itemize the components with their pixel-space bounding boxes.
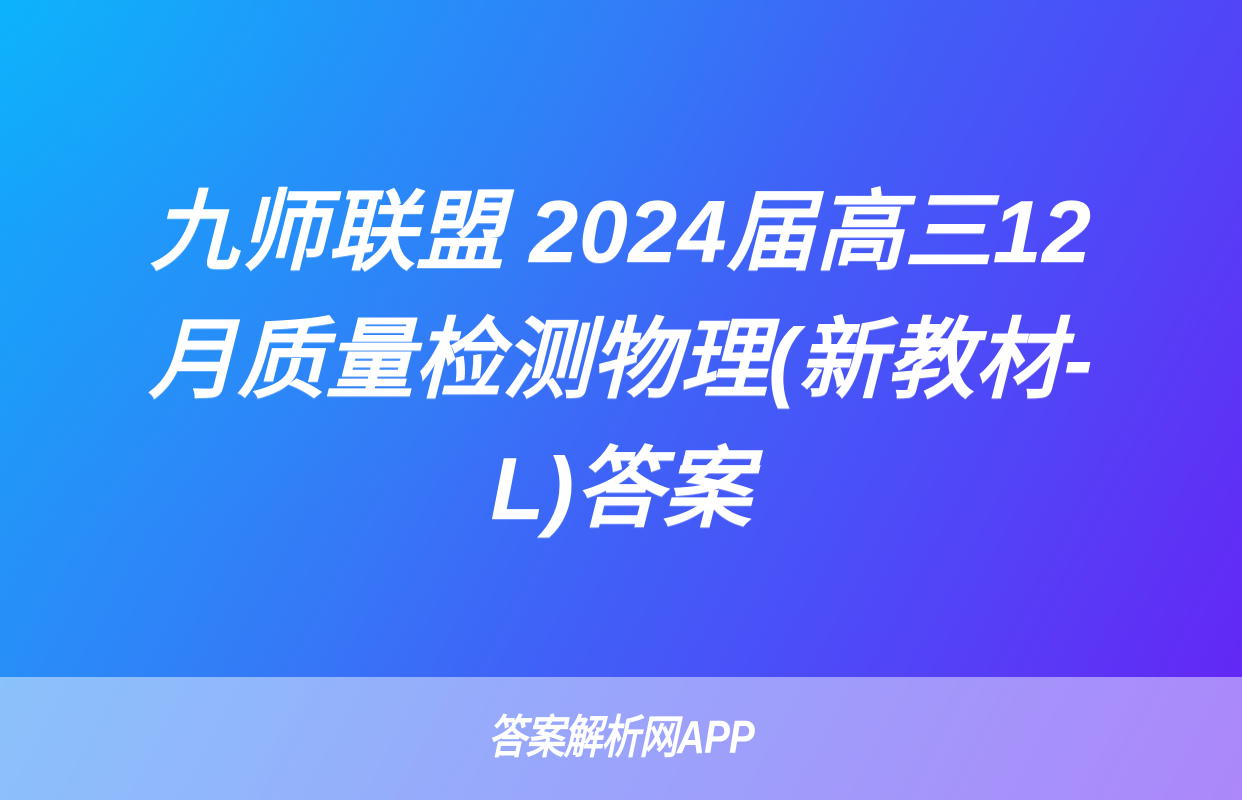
title-line-1: 九师联盟 2024届高三12 [66, 168, 1176, 296]
title-line-2: 月质量检测物理(新教材- [66, 296, 1176, 424]
title-line-3: L)答案 [66, 425, 1176, 553]
cover-card: 九师联盟 2024届高三12 月质量检测物理(新教材- L)答案 答案解析网AP… [0, 0, 1242, 800]
page-title: 九师联盟 2024届高三12 月质量检测物理(新教材- L)答案 [0, 168, 1242, 553]
watermark-label: 答案解析网APP [99, 707, 1142, 767]
footer-watermark-band: 答案解析网APP [0, 677, 1242, 800]
